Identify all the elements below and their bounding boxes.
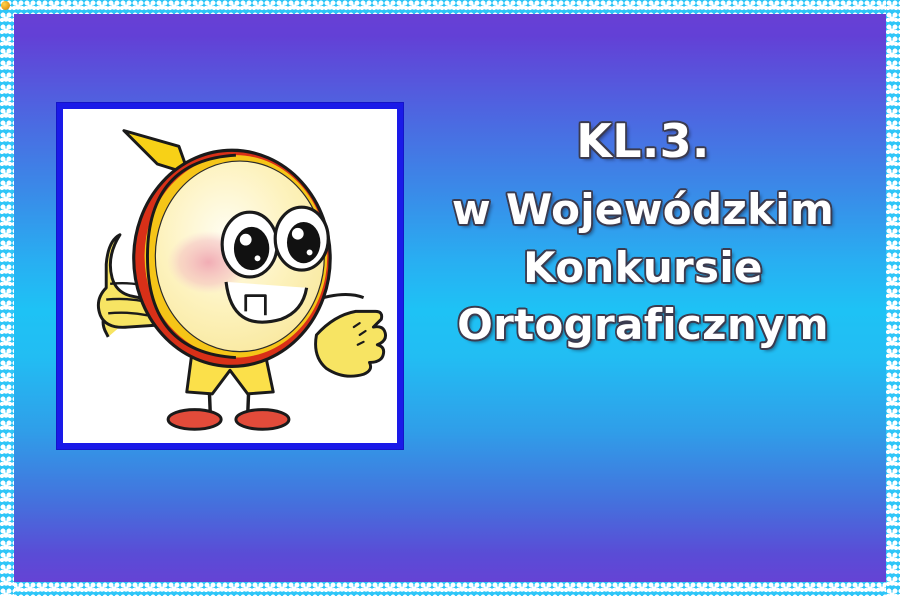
border-top-strip [0,0,900,14]
slide-heading: KL.3. w Wojewódzkim Konkursie Ortografic… [404,118,882,347]
corner-dot-icon [1,1,10,10]
picture-canvas [63,109,397,443]
border-right-strip [886,0,900,596]
picture-frame [57,103,403,449]
waving-hand [311,294,386,376]
shoes [168,410,289,430]
border-left-strip [0,0,14,596]
heading-line-4: Ortograficznym [404,303,882,347]
heading-line-3: Konkursie [404,246,882,290]
border-bottom-strip [0,582,900,596]
presentation-slide: KL.3. w Wojewódzkim Konkursie Ortografic… [0,0,900,596]
heading-line-2: w Wojewódzkim [404,188,882,232]
heading-line-1: KL.3. [404,118,882,166]
egg-character-illustration [63,109,397,443]
